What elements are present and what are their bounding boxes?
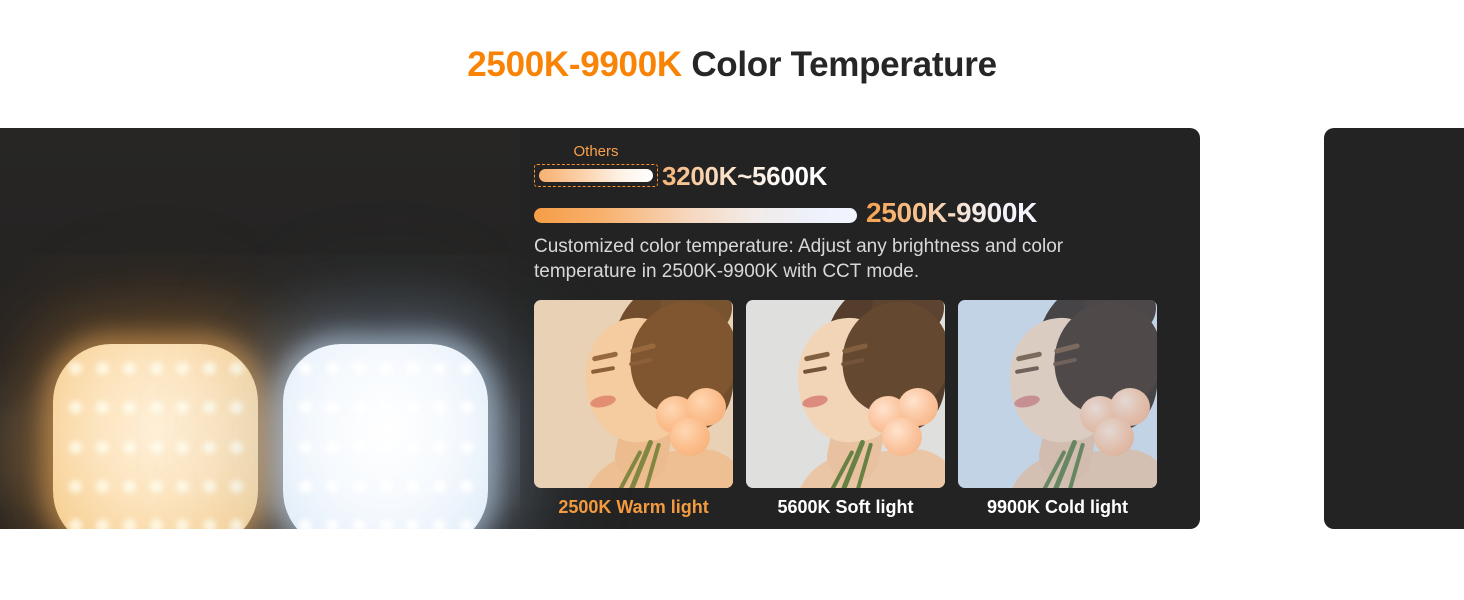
led-dot <box>176 441 189 454</box>
led-dot <box>69 441 82 454</box>
led-dot <box>230 519 243 529</box>
sample-photo-soft <box>746 300 945 488</box>
led-dot <box>326 519 339 529</box>
led-dot <box>380 362 393 375</box>
led-dot <box>380 519 393 529</box>
led-dot <box>433 480 446 493</box>
led-dot <box>150 362 163 375</box>
led-dot <box>176 519 189 529</box>
led-dot <box>123 519 136 529</box>
led-dot <box>299 519 312 529</box>
led-dot <box>460 362 473 375</box>
led-dot <box>96 362 109 375</box>
page-header: 2500K-9900K Color Temperature <box>0 0 1464 128</box>
led-dot <box>326 480 339 493</box>
led-dot <box>123 480 136 493</box>
sample-photo-row: 2500K Warm light <box>534 300 1157 516</box>
others-label: Others <box>534 144 658 159</box>
led-dot <box>460 519 473 529</box>
led-dot <box>203 441 216 454</box>
led-dot <box>406 401 419 414</box>
others-gradient-bar <box>539 169 653 182</box>
led-dot <box>123 441 136 454</box>
led-dot <box>433 401 446 414</box>
led-dot <box>460 441 473 454</box>
led-dot <box>150 480 163 493</box>
led-dot <box>230 401 243 414</box>
led-dot <box>353 441 366 454</box>
led-dot <box>299 401 312 414</box>
led-dot <box>326 362 339 375</box>
sample-caption-warm: 2500K Warm light <box>534 498 733 516</box>
cool-led-panel <box>283 344 488 529</box>
carnation-flower <box>670 418 710 456</box>
led-dot <box>406 362 419 375</box>
led-dot <box>203 519 216 529</box>
led-dot <box>380 441 393 454</box>
led-dot <box>176 362 189 375</box>
led-dot <box>69 519 82 529</box>
sample-photo-warm <box>534 300 733 488</box>
sample-photo-item: 9900K Cold light <box>958 300 1157 516</box>
carnation-flower <box>1094 418 1134 456</box>
led-dot <box>353 401 366 414</box>
led-dot <box>326 401 339 414</box>
others-range-box <box>534 164 658 187</box>
led-dot <box>150 441 163 454</box>
feature-description: Customized color temperature: Adjust any… <box>534 234 1134 284</box>
sample-photo-cold <box>958 300 1157 488</box>
led-demo-stage <box>0 128 520 529</box>
led-dot <box>69 480 82 493</box>
product-range-label: 2500K-9900K <box>866 199 1037 227</box>
led-dot <box>406 441 419 454</box>
comparison-content: Others 3200K~5600K 2500K-9900K Customize… <box>534 128 1174 529</box>
page-title-rest: Color Temperature <box>691 45 996 84</box>
led-dot <box>406 480 419 493</box>
led-dot <box>353 362 366 375</box>
led-dot <box>380 401 393 414</box>
led-dot <box>176 480 189 493</box>
led-dot <box>96 519 109 529</box>
led-dot <box>460 401 473 414</box>
led-dot <box>353 480 366 493</box>
others-group: Others <box>534 144 658 187</box>
led-dot <box>299 441 312 454</box>
sample-caption-cold: 9900K Cold light <box>958 498 1157 516</box>
led-dot <box>230 441 243 454</box>
led-dot <box>203 401 216 414</box>
page-title: 2500K-9900K Color Temperature <box>467 47 997 82</box>
led-dot <box>203 362 216 375</box>
led-dot <box>96 401 109 414</box>
others-range-label: 3200K~5600K <box>662 163 827 189</box>
portrait-illustration <box>534 300 733 488</box>
led-dot <box>433 519 446 529</box>
led-dot <box>203 480 216 493</box>
sample-photo-item: 2500K Warm light <box>534 300 733 516</box>
product-gradient-bar <box>534 208 857 223</box>
led-dot <box>460 480 473 493</box>
led-dot <box>69 401 82 414</box>
sample-photo-item: 5600K Soft light <box>746 300 945 516</box>
portrait-illustration <box>746 300 945 488</box>
cool-led-dot-grid <box>283 344 488 529</box>
led-dot <box>150 401 163 414</box>
led-dot <box>433 441 446 454</box>
led-dot <box>433 362 446 375</box>
feature-panel: Others 3200K~5600K 2500K-9900K Customize… <box>0 128 1200 529</box>
led-dot <box>326 441 339 454</box>
led-dot <box>230 480 243 493</box>
portrait-illustration <box>958 300 1157 488</box>
led-dot <box>123 362 136 375</box>
led-dot <box>299 480 312 493</box>
led-dot <box>96 480 109 493</box>
page-title-accent: 2500K-9900K <box>467 45 682 84</box>
led-dot <box>176 401 189 414</box>
sample-caption-soft: 5600K Soft light <box>746 498 945 516</box>
led-dot <box>230 362 243 375</box>
next-slide-panel <box>1324 128 1464 529</box>
led-dot <box>96 441 109 454</box>
led-dot <box>406 519 419 529</box>
led-dot <box>150 519 163 529</box>
led-dot <box>353 519 366 529</box>
warm-led-dot-grid <box>53 344 258 529</box>
led-dot <box>123 401 136 414</box>
led-dot <box>299 362 312 375</box>
led-dot <box>380 480 393 493</box>
carnation-flower <box>882 418 922 456</box>
warm-led-panel <box>53 344 258 529</box>
led-dot <box>69 362 82 375</box>
